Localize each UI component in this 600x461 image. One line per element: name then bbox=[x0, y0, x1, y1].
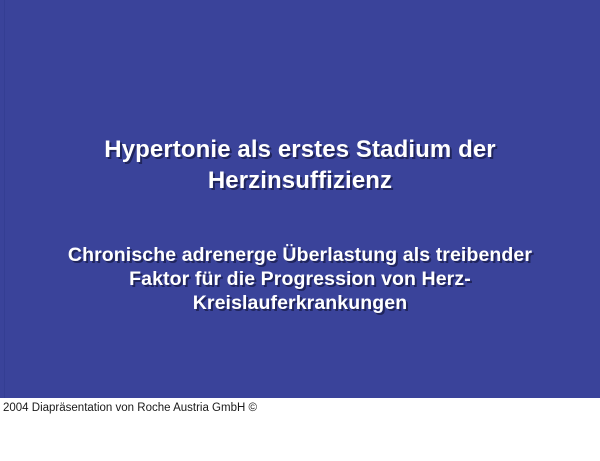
subtitle-line-3: Kreislauferkrankungen bbox=[40, 291, 560, 315]
slide-canvas: Hypertonie als erstes Stadium der Herzin… bbox=[0, 0, 600, 398]
title-line-1: Hypertonie als erstes Stadium der bbox=[40, 134, 560, 165]
title-line-2: Herzinsuffizienz bbox=[40, 165, 560, 196]
slide-title: Hypertonie als erstes Stadium der Herzin… bbox=[40, 134, 560, 196]
copyright-credit: 2004 Diapräsentation von Roche Austria G… bbox=[3, 401, 257, 416]
subtitle-line-2: Faktor für die Progression von Herz- bbox=[40, 267, 560, 291]
slide-subtitle: Chronische adrenerge Überlastung als tre… bbox=[40, 243, 560, 315]
left-edge-seam bbox=[4, 0, 5, 398]
footer-strip: 2004 Diapräsentation von Roche Austria G… bbox=[0, 398, 600, 461]
subtitle-line-1: Chronische adrenerge Überlastung als tre… bbox=[40, 243, 560, 267]
presentation-slide: Hypertonie als erstes Stadium der Herzin… bbox=[0, 0, 600, 461]
